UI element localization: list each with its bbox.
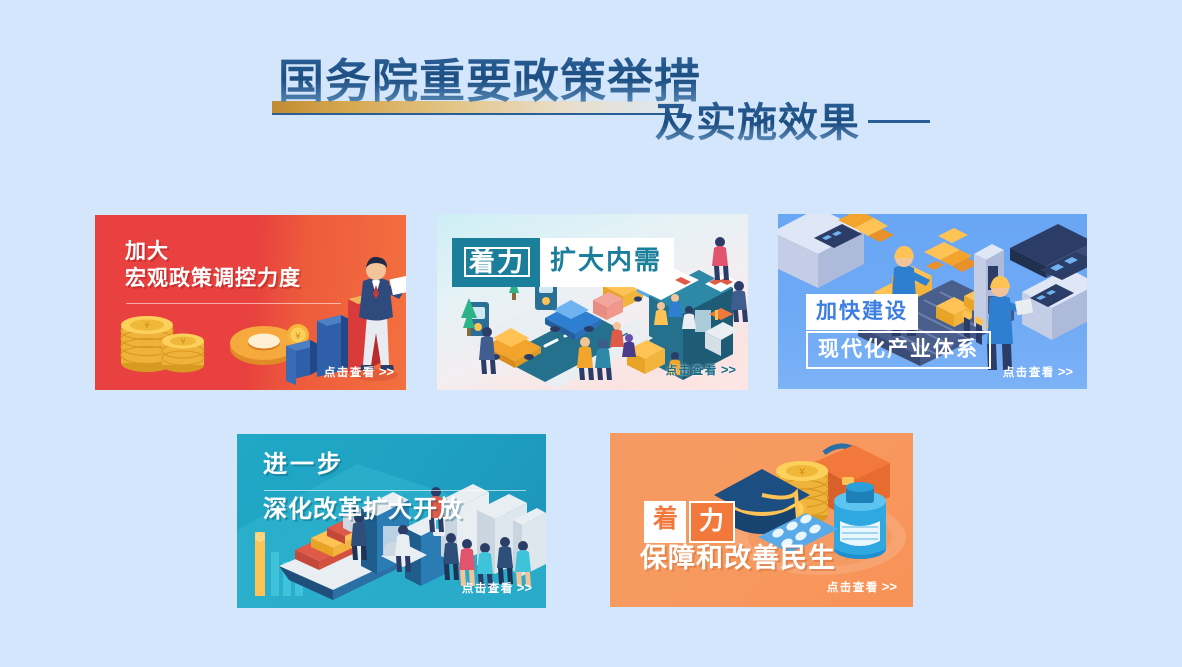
card-improve-peoples-livelihood-badge-white: 着 — [644, 501, 686, 543]
card-macro-policy-rule — [126, 303, 341, 304]
card-modern-industrial-system-heading-line-2: 现代化产业体系 — [806, 331, 991, 369]
card-deepen-reform-open-up-rule — [264, 490, 526, 491]
card-expand-domestic-demand-cta-label: 点击查看 — [666, 365, 718, 377]
card-macro-policy-cta-label: 点击查看 — [324, 367, 376, 379]
card-expand-domestic-demand-badge-dark-label: 着力 — [464, 247, 530, 277]
card-deepen-reform-open-up-cta[interactable]: 点击查看>> — [462, 580, 532, 596]
card-macro-policy[interactable]: ¥ ¥ — [95, 215, 406, 390]
card-deepen-reform-open-up-cta-label: 点击查看 — [462, 583, 514, 595]
svg-text:¥: ¥ — [144, 321, 150, 331]
card-macro-policy-heading-line-1: 加大 — [125, 238, 301, 265]
card-improve-peoples-livelihood-badge-orange: 力 — [689, 501, 735, 543]
page-title-line-1: 国务院重要政策举措 — [278, 56, 701, 106]
card-improve-peoples-livelihood-heading-line-2: 保障和改善民生 — [640, 543, 836, 573]
card-deepen-reform-open-up-cta-arrow-icon: >> — [517, 580, 532, 595]
card-improve-peoples-livelihood[interactable]: ¥ ¥ ¥ — [610, 433, 913, 607]
card-improve-peoples-livelihood-badge: 着 力 — [644, 501, 735, 543]
page-title-line-2: 及实施效果 — [655, 100, 860, 146]
card-improve-peoples-livelihood-cta[interactable]: 点击查看>> — [827, 579, 897, 595]
card-modern-industrial-system-heading-line-1: 加快建设 — [806, 294, 918, 330]
page-header: 国务院重要政策举措 及实施效果 — [0, 0, 1182, 190]
card-expand-domestic-demand-badge-light: 扩大内需 — [540, 238, 674, 287]
card-modern-industrial-system-cta[interactable]: 点击查看>> — [1003, 364, 1073, 380]
svg-text:¥: ¥ — [799, 467, 805, 478]
title-trailing-dash — [868, 120, 930, 123]
card-deepen-reform-open-up-heading-line-2: 深化改革扩大开放 — [263, 496, 463, 524]
card-modern-industrial-system-cta-label: 点击查看 — [1003, 367, 1055, 379]
card-modern-industrial-system-cta-arrow-icon: >> — [1058, 364, 1073, 379]
title-blue-rule — [272, 113, 686, 115]
card-expand-domestic-demand[interactable]: 着力 扩大内需 点击查看>> — [437, 214, 748, 390]
card-expand-domestic-demand-badge-dark: 着力 — [452, 238, 540, 287]
card-macro-policy-cta[interactable]: 点击查看>> — [324, 364, 394, 380]
card-deepen-reform-open-up-heading-line-1: 进一步 — [263, 452, 344, 478]
card-expand-domestic-demand-badge: 着力 扩大内需 — [452, 238, 674, 287]
card-modern-industrial-system[interactable]: 加快建设 现代化产业体系 点击查看>> — [778, 214, 1087, 389]
card-improve-peoples-livelihood-cta-label: 点击查看 — [827, 582, 879, 594]
card-expand-domestic-demand-cta-arrow-icon: >> — [721, 362, 736, 377]
card-macro-policy-cta-arrow-icon: >> — [379, 364, 394, 379]
card-macro-policy-heading: 加大 宏观政策调控力度 — [125, 238, 301, 292]
svg-text:¥: ¥ — [295, 332, 301, 342]
card-expand-domestic-demand-cta[interactable]: 点击查看>> — [666, 362, 736, 378]
card-improve-peoples-livelihood-cta-arrow-icon: >> — [882, 579, 897, 594]
card-deepen-reform-open-up[interactable]: 进一步 深化改革扩大开放 点击查看>> — [237, 434, 546, 608]
svg-text:¥: ¥ — [180, 337, 185, 346]
card-macro-policy-heading-line-2: 宏观政策调控力度 — [125, 265, 301, 292]
